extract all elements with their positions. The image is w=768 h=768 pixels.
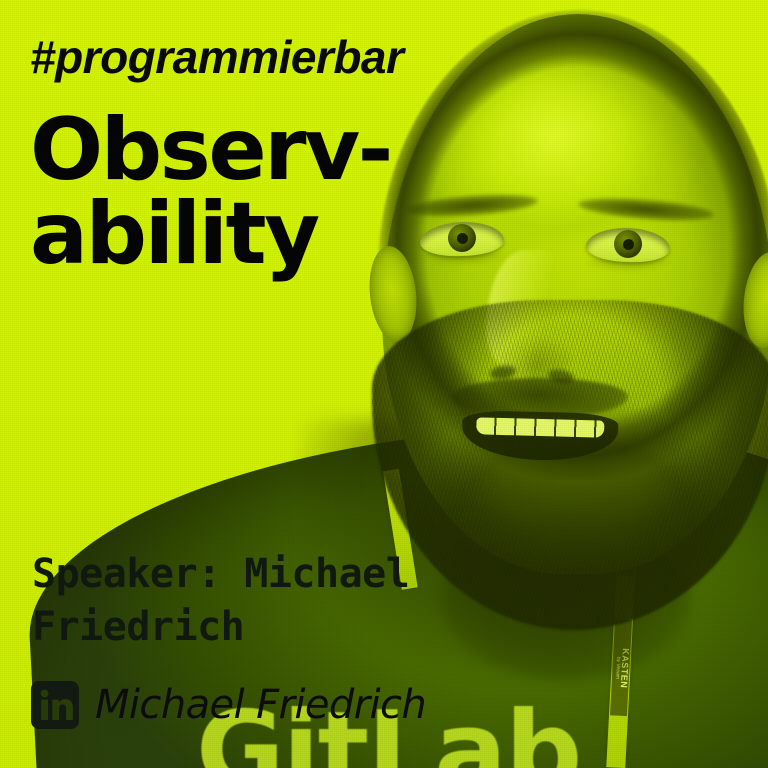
social-handle-text: Michael Friedrich bbox=[95, 682, 426, 728]
podcast-episode-poster: GitLab KASTENby Veeam KASTENby Veeam bbox=[0, 0, 768, 768]
page-title: Observ- ability bbox=[30, 108, 391, 277]
linkedin-icon[interactable] bbox=[31, 681, 79, 729]
poster-text-layer: #programmierbar Observ- ability Speaker:… bbox=[0, 0, 768, 768]
social-handle-row[interactable]: Michael Friedrich bbox=[31, 681, 426, 729]
speaker-name-label: Speaker: Michael Friedrich bbox=[32, 548, 409, 654]
brand-hashtag: #programmierbar bbox=[30, 30, 403, 84]
